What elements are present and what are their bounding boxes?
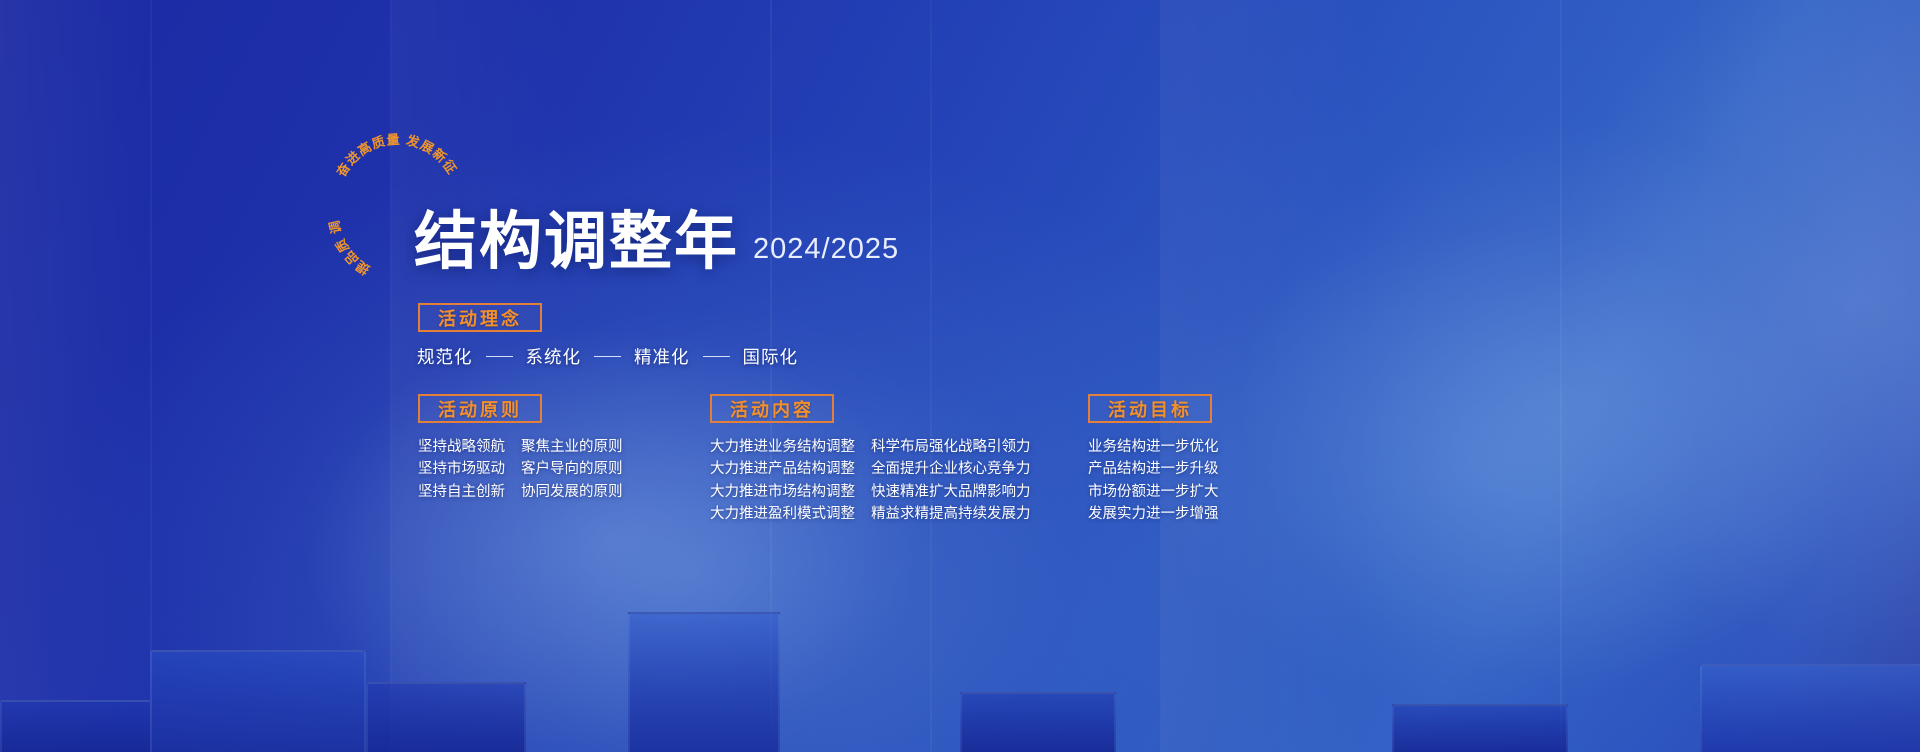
column-activity-goal: 业务结构进一步优化 产品结构进一步升级 市场份额进一步扩大 发展实力进一步增强 [1088, 436, 1219, 526]
row-left: 大力推进产品结构调整 [710, 458, 855, 480]
list-item: 坚持战略领航 聚焦主业的原则 [418, 436, 623, 458]
skyline-block [628, 612, 780, 752]
badge-activity-content: 活动内容 [710, 394, 834, 423]
row-left: 坚持战略领航 [418, 436, 505, 458]
list-item: 大力推进业务结构调整 科学布局强化战略引领力 [710, 436, 1031, 458]
column-activity-principle: 坚持战略领航 聚焦主业的原则 坚持市场驱动 客户导向的原则 坚持自主创新 协同发… [418, 436, 623, 503]
concept-keyword: 国际化 [743, 344, 799, 369]
background-glow [1240, 120, 1880, 680]
row-left: 发展实力进一步增强 [1088, 503, 1219, 525]
row-left: 产品结构进一步升级 [1088, 458, 1219, 480]
concept-separator-dash [486, 356, 513, 358]
background-band [1160, 0, 1162, 752]
row-left: 坚持自主创新 [418, 481, 505, 503]
concept-keyword: 规范化 [417, 344, 473, 369]
skyline-block [150, 650, 366, 752]
background-band [150, 0, 152, 752]
concept-separator-dash [594, 356, 621, 358]
concept-separator-dash [703, 356, 730, 358]
circle-text-left: 提品质 调转型 增动能 [325, 106, 372, 278]
background-band [1690, 0, 1920, 752]
circle-text-top: 奋进高质量 发展新征程 [325, 106, 460, 180]
skyline-block [0, 700, 152, 752]
list-item: 大力推进市场结构调整 快速精准扩大品牌影响力 [710, 481, 1031, 503]
skyline-block [366, 682, 526, 752]
row-right: 全面提升企业核心竞争力 [871, 458, 1031, 480]
background-band [390, 0, 392, 752]
concept-keyword-list: 规范化 系统化 精准化 国际化 [417, 344, 798, 369]
list-item: 发展实力进一步增强 [1088, 503, 1219, 525]
skyline-block [1700, 664, 1920, 752]
concept-keyword: 精准化 [634, 344, 690, 369]
badge-activity-goal: 活动目标 [1088, 394, 1212, 423]
row-right: 快速精准扩大品牌影响力 [871, 481, 1031, 503]
row-left: 业务结构进一步优化 [1088, 436, 1219, 458]
promotional-banner: 奋进高质量 发展新征程 提品质 调转型 增动能 结构调整年 2024/2025 … [0, 0, 1920, 752]
skyline-block [1392, 704, 1568, 752]
row-right: 协同发展的原则 [521, 481, 623, 503]
background-band [0, 0, 150, 752]
row-left: 大力推进市场结构调整 [710, 481, 855, 503]
concept-keyword: 系统化 [526, 344, 582, 369]
background-band [930, 0, 932, 752]
badge-activity-principle: 活动原则 [418, 394, 542, 423]
list-item: 业务结构进一步优化 [1088, 436, 1219, 458]
list-item: 市场份额进一步扩大 [1088, 481, 1219, 503]
list-item: 坚持市场驱动 客户导向的原则 [418, 458, 623, 480]
row-right: 科学布局强化战略引领力 [871, 436, 1031, 458]
row-left: 市场份额进一步扩大 [1088, 481, 1219, 503]
title-year: 2024/2025 [753, 233, 899, 266]
list-item: 产品结构进一步升级 [1088, 458, 1219, 480]
row-left: 坚持市场驱动 [418, 458, 505, 480]
background-band [392, 0, 572, 752]
row-left: 大力推进业务结构调整 [710, 436, 855, 458]
badge-activity-concept: 活动理念 [418, 303, 542, 332]
title-row: 结构调整年 2024/2025 [414, 212, 899, 272]
background-band [1560, 0, 1562, 752]
row-right: 聚焦主业的原则 [521, 436, 623, 458]
row-left: 大力推进盈利模式调整 [710, 503, 855, 525]
list-item: 坚持自主创新 协同发展的原则 [418, 481, 623, 503]
skyline-block [960, 692, 1116, 752]
background-band [1162, 0, 1372, 752]
list-item: 大力推进产品结构调整 全面提升企业核心竞争力 [710, 458, 1031, 480]
row-right: 精益求精提高持续发展力 [871, 503, 1031, 525]
page-title: 结构调整年 [414, 212, 739, 272]
row-right: 客户导向的原则 [521, 458, 623, 480]
list-item: 大力推进盈利模式调整 精益求精提高持续发展力 [710, 503, 1031, 525]
column-activity-content: 大力推进业务结构调整 科学布局强化战略引领力 大力推进产品结构调整 全面提升企业… [710, 436, 1031, 526]
